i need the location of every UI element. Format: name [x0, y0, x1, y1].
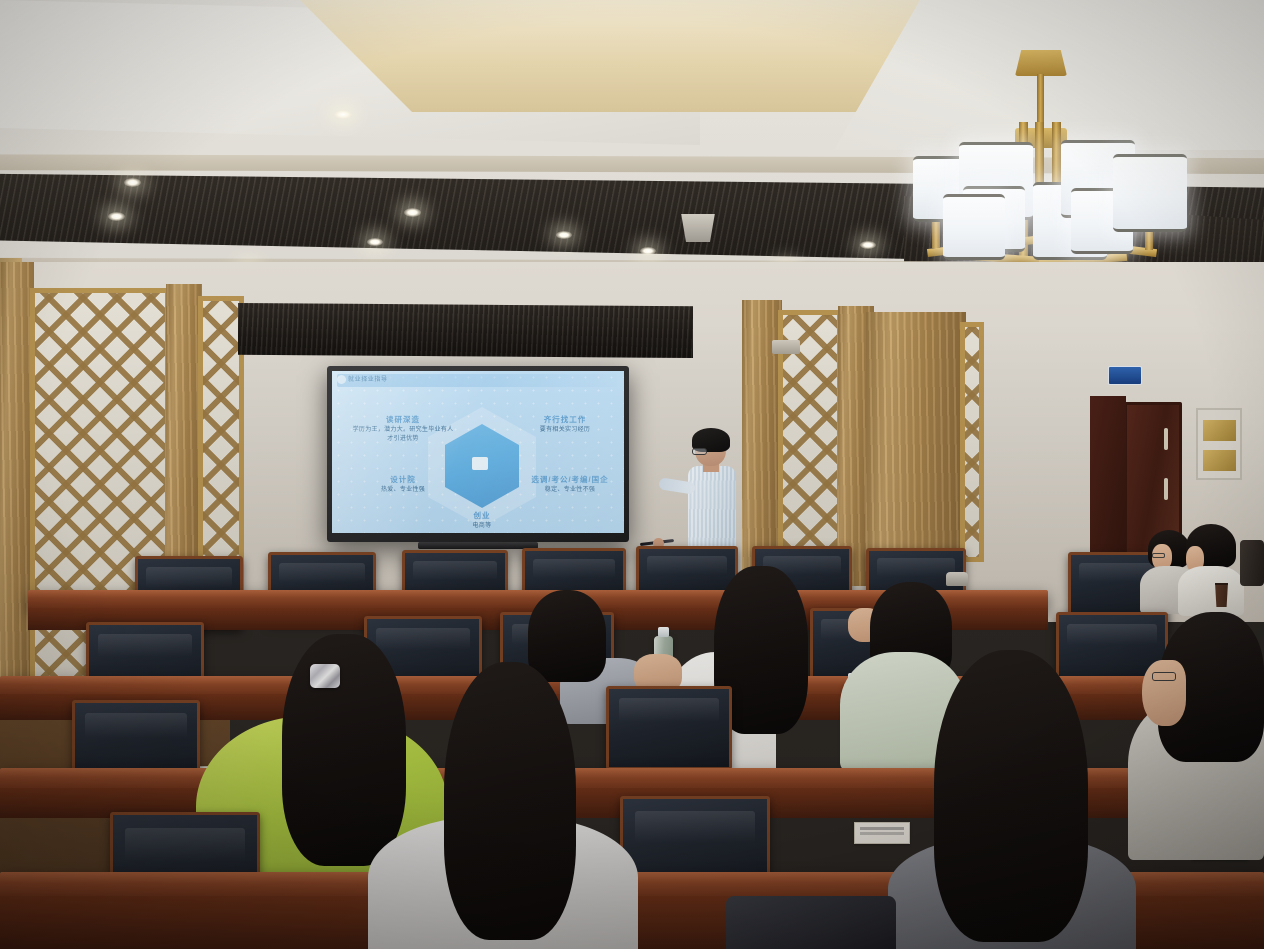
slide-branch-title: 选调/考公/考编/国企: [516, 475, 624, 486]
display-stand: [418, 542, 538, 549]
hair-clip: [310, 664, 340, 688]
slide-branch-subtitle: 要有相关实习经历: [510, 426, 620, 435]
slide-header-icon: [337, 375, 346, 384]
chandelier-shade: [1113, 154, 1187, 232]
slide-branch-subtitle: 稳定、专业性不强: [516, 486, 624, 495]
chandelier-canopy: [1015, 50, 1067, 76]
glasses-icon: [1152, 553, 1165, 558]
slide-canvas: 就业择业指导 读研深造 学历为王，潜力大。研究生毕业有人才引进优势 齐行找工作 …: [332, 371, 624, 533]
door-frame-left: [1090, 396, 1126, 572]
water-dispenser: [1240, 540, 1264, 586]
bag: [726, 896, 896, 949]
slide-branch-design: 设计院 热爱、专业性强: [354, 475, 452, 495]
glasses-icon: [1152, 672, 1176, 681]
slide-branch-subtitle: 热爱、专业性强: [354, 486, 452, 495]
attendee-hair: [528, 590, 606, 682]
name-tag: [854, 822, 910, 844]
slide-branch-startup: 创业 电商等: [438, 511, 526, 531]
slide-branch-public: 选调/考公/考编/国企 稳定、专业性不强: [516, 475, 624, 495]
downlight: [404, 208, 421, 217]
attendee-hair: [282, 634, 406, 866]
slide-branch-title: 读研深造: [350, 415, 456, 426]
downlight: [124, 178, 141, 187]
slide-branch-title: 设计院: [354, 475, 452, 486]
attendee-hair: [934, 650, 1088, 942]
conference-room-photo: 就业择业指导 读研深造 学历为王，潜力大。研究生毕业有人才引进优势 齐行找工作 …: [0, 0, 1264, 949]
emergency-exit-sign: [1108, 366, 1142, 385]
chair[interactable]: [606, 686, 732, 770]
slide-branch-job: 齐行找工作 要有相关实习经历: [510, 415, 620, 435]
slide-branch-kaoyan: 读研深造 学历为王，潜力大。研究生毕业有人才引进优势: [350, 415, 456, 443]
chandelier-shade: [943, 194, 1005, 260]
downlight: [556, 231, 572, 239]
glasses-icon: [692, 448, 707, 455]
presenter-torso: [688, 466, 736, 550]
slide-branch-title: 创业: [438, 511, 526, 522]
wood-wall-panel: [0, 262, 34, 732]
door-handle[interactable]: [1164, 478, 1168, 500]
attendee-body: [1178, 566, 1244, 616]
lattice-screen-panel: [198, 296, 244, 596]
downlight: [108, 212, 125, 221]
screen-valance: [238, 303, 693, 358]
wall-speaker: [772, 340, 800, 354]
slide-header-title: 就业择业指导: [348, 374, 388, 383]
slide-branch-subtitle: 电商等: [438, 522, 526, 531]
downlight: [860, 241, 876, 249]
wall-plaque: [1203, 420, 1236, 441]
teapot: [946, 572, 968, 586]
downlight: [367, 238, 383, 246]
attendee-hair: [444, 662, 576, 940]
presentation-display[interactable]: 就业择业指导 读研深造 学历为王，潜力大。研究生毕业有人才引进优势 齐行找工作 …: [327, 366, 629, 542]
wall-plaque: [1203, 450, 1236, 471]
slide-branch-subtitle: 学历为王，潜力大。研究生毕业有人才引进优势: [350, 426, 456, 443]
downlight: [334, 110, 352, 119]
document-icon: [472, 457, 488, 470]
attendee-face: [1142, 660, 1186, 726]
lattice-screen-panel: [960, 322, 984, 562]
door-handle[interactable]: [1164, 428, 1168, 450]
wood-wall-panel: [866, 312, 966, 574]
downlight: [640, 247, 656, 255]
slide-branch-title: 齐行找工作: [510, 415, 620, 426]
